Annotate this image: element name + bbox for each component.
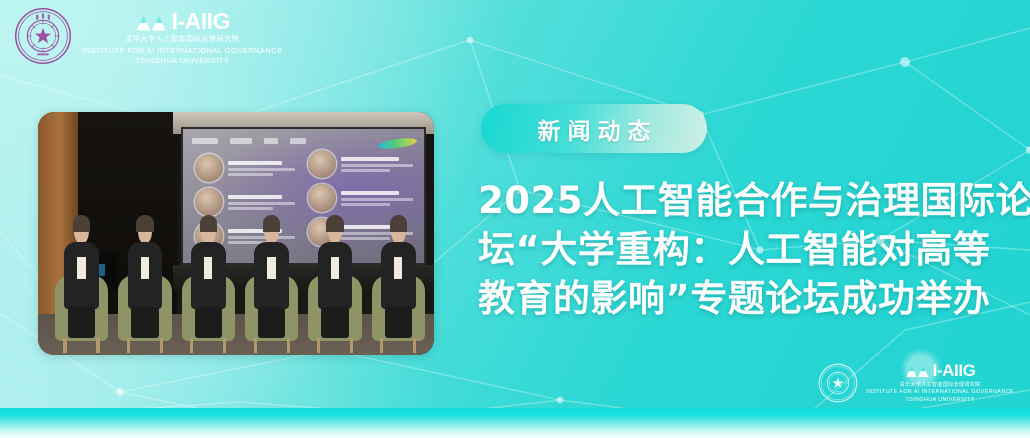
panelist xyxy=(185,218,231,339)
institute-name-english: INSTITUTE FOR AI INTERNATIONAL GOVERNANC… xyxy=(866,389,1014,404)
headline: 2025人工智能合作与治理国际论 坛“大学重构：人工智能对高等 教育的影响”专题… xyxy=(478,176,1026,323)
bottom-accent-bar xyxy=(0,408,1030,438)
institute-name-english-line2: TSINGHUA UNIVERSITY xyxy=(866,397,1014,404)
institute-name-chinese: 清华大学人工智能国际治理研究院 xyxy=(125,36,239,44)
institute-name-english-line2: TSINGHUA UNIVERSITY xyxy=(82,56,283,66)
panelist-seat xyxy=(177,199,240,350)
news-category-label: 新闻动态 xyxy=(531,112,658,146)
panelist xyxy=(59,218,105,339)
iaiig-logo-mark: I-AIIG xyxy=(905,362,976,379)
slide-speaker xyxy=(308,147,419,181)
tsinghua-seal-icon xyxy=(818,363,858,403)
institute-name-chinese: 清华大学人工智能国际治理研究院 xyxy=(900,381,981,388)
panelist-seat xyxy=(113,199,176,350)
speaker-avatar xyxy=(195,154,223,182)
panelist-seat xyxy=(240,199,303,350)
slide-speaker xyxy=(195,151,301,185)
panelist xyxy=(376,218,422,339)
panelist xyxy=(249,218,295,339)
institute-name-english-line1: INSTITUTE FOR AI INTERNATIONAL GOVERNANC… xyxy=(82,46,283,56)
header-logo: I-AIIG 清华大学人工智能国际治理研究院 INSTITUTE FOR AI … xyxy=(14,6,283,66)
speaker-avatar xyxy=(308,150,336,178)
headline-line-3: 教育的影响”专题论坛成功举办 xyxy=(478,274,1026,323)
institute-name-english: INSTITUTE FOR AI INTERNATIONAL GOVERNANC… xyxy=(82,46,283,66)
iaiig-logo-mark: I-AIIG xyxy=(135,10,230,33)
panelist-seat xyxy=(303,199,366,350)
panelist-seat xyxy=(367,199,430,350)
panelist xyxy=(312,218,358,339)
panelist-seat xyxy=(50,199,113,350)
panel-discussion-photo xyxy=(38,112,434,355)
news-banner: I-AIIG 清华大学人工智能国际治理研究院 INSTITUTE FOR AI … xyxy=(0,0,1030,438)
footer-logo: I-AIIG 清华大学人工智能国际治理研究院 INSTITUTE FOR AI … xyxy=(818,362,1014,404)
photo-panelist-row xyxy=(50,199,430,350)
institute-name-english-line1: INSTITUTE FOR AI INTERNATIONAL GOVERNANC… xyxy=(866,389,1014,396)
panelist xyxy=(122,218,168,339)
iaiig-wordmark: I-AIIG xyxy=(933,362,976,379)
headline-line-1: 2025人工智能合作与治理国际论 xyxy=(478,176,1026,225)
mountain-peaks-icon xyxy=(135,12,169,32)
tsinghua-seal-icon xyxy=(14,7,72,65)
headline-line-2: 坛“大学重构：人工智能对高等 xyxy=(478,225,1026,274)
mountain-peaks-icon xyxy=(905,363,931,378)
news-category-badge: 新闻动态 xyxy=(481,104,707,153)
iaiig-wordmark: I-AIIG xyxy=(172,10,230,33)
